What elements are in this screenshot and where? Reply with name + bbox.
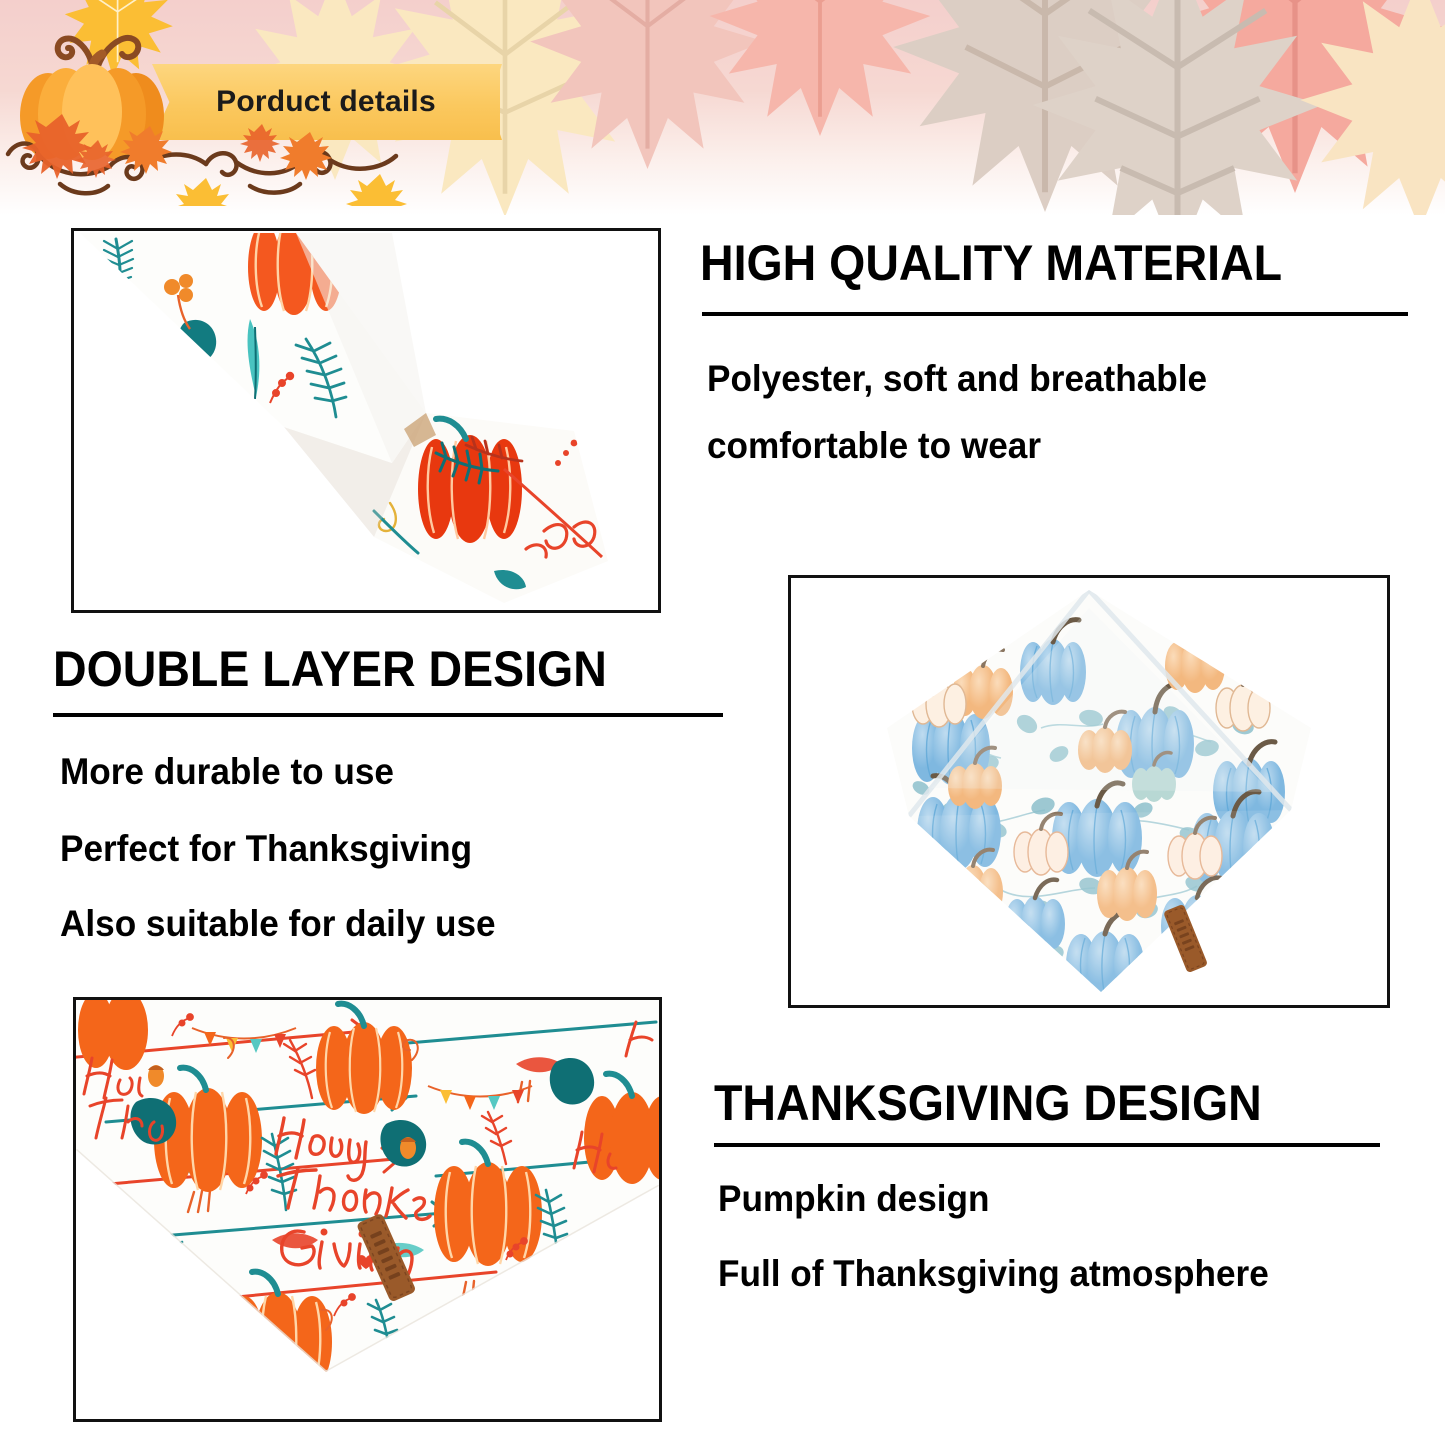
section-rule-high-quality-material [702, 312, 1408, 316]
section-line-double-layer-design-1: Perfect for Thanksgiving [60, 830, 472, 867]
folded-bandana-photo [71, 228, 661, 613]
section-line-high-quality-material-0: Polyester, soft and breathable [707, 360, 1207, 397]
section-rule-thanksgiving-design [714, 1143, 1380, 1147]
maple-leaf-icon [1290, 0, 1445, 215]
thanksgiving-bandana-image [76, 1000, 659, 1419]
blue-pumpkin-bandana-photo [788, 575, 1390, 1008]
product-detail-infographic: Porduct details [0, 0, 1445, 1445]
section-heading-double-layer-design: DOUBLE LAYER DESIGN [53, 644, 607, 694]
blue-pumpkin-bandana-image [791, 578, 1387, 1005]
section-rule-double-layer-design [53, 713, 723, 717]
section-line-thanksgiving-design-1: Full of Thanksgiving atmosphere [718, 1255, 1269, 1292]
section-heading-high-quality-material: HIGH QUALITY MATERIAL [700, 238, 1282, 288]
vine-swirl-icon [0, 96, 430, 206]
maple-leaf-icon [1020, 0, 1335, 215]
thanksgiving-bandana-photo [73, 997, 662, 1422]
section-line-double-layer-design-0: More durable to use [60, 753, 394, 790]
section-line-high-quality-material-1: comfortable to wear [707, 427, 1041, 464]
section-line-double-layer-design-2: Also suitable for daily use [60, 905, 496, 942]
section-line-thanksgiving-design-0: Pumpkin design [718, 1180, 989, 1217]
section-heading-thanksgiving-design: THANKSGIVING DESIGN [714, 1078, 1262, 1128]
folded-bandana-image [74, 231, 658, 610]
